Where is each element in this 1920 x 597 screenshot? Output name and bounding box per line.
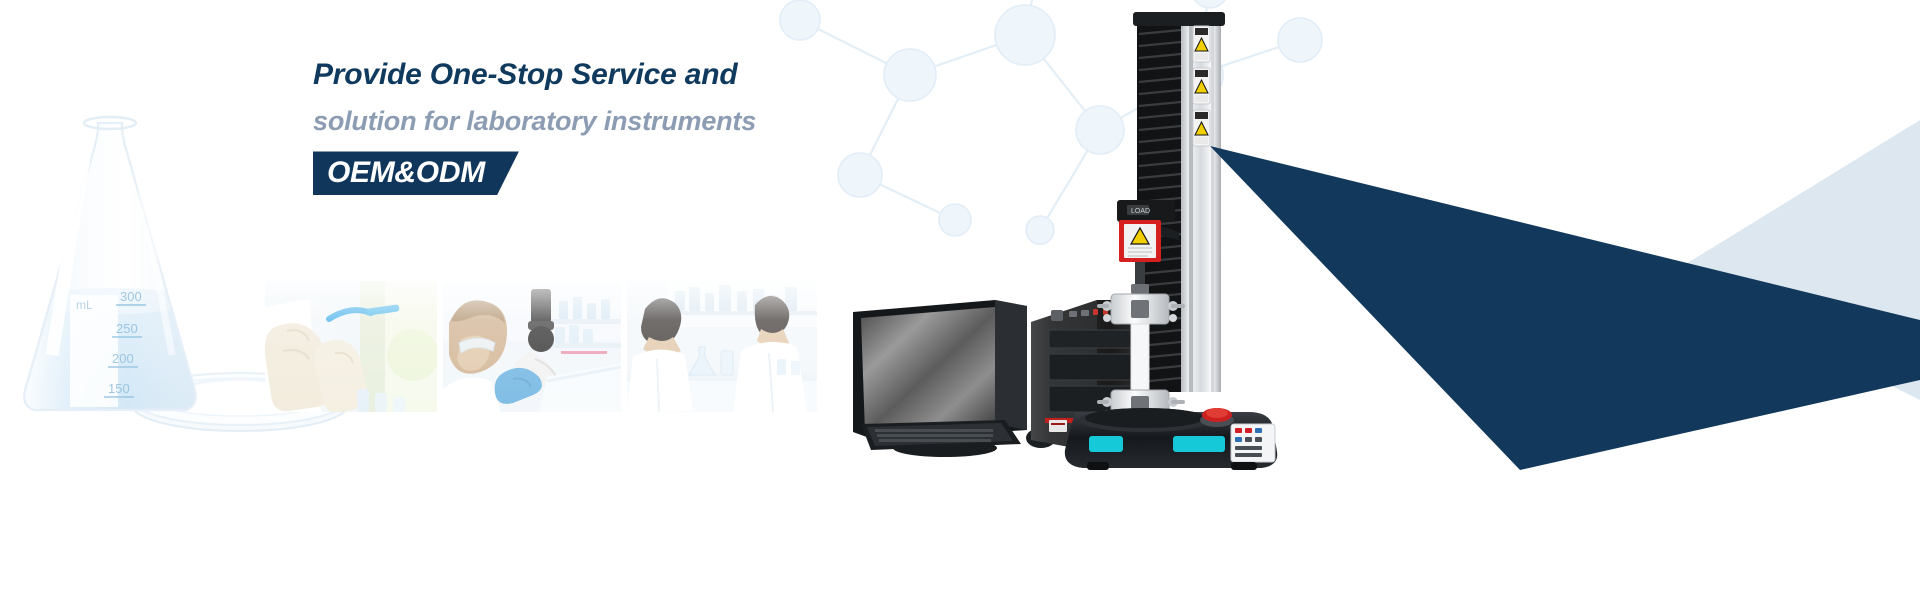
computer-tower: noname (1031, 300, 1145, 452)
photo-microscope (443, 281, 621, 412)
svg-text:mL: mL (76, 298, 93, 312)
headline-block: Provide One-Stop Service and solution fo… (313, 56, 953, 195)
emergency-stop-button[interactable] (1200, 408, 1234, 427)
svg-text:300: 300 (120, 289, 142, 304)
svg-text:LOAD: LOAD (1131, 208, 1150, 215)
headline-line-1: Provide One-Stop Service and (313, 56, 953, 94)
computer-keyboard (861, 420, 1056, 450)
accent-strip-right (1173, 436, 1225, 452)
photo-lab-team (627, 281, 817, 412)
load-cell-carriage: LOAD (1117, 200, 1179, 262)
upper-grip (1097, 262, 1185, 324)
lab-photo-strip (265, 281, 817, 412)
dark-navy-arrow-triangle (1210, 146, 1920, 470)
svg-text:200: 200 (112, 351, 134, 366)
headline-line-2: solution for laboratory instruments (313, 104, 953, 139)
photo-pipetting (265, 281, 437, 412)
svg-text:noname: noname (1091, 424, 1124, 434)
svg-text:250: 250 (116, 321, 138, 336)
computer-monitor (853, 300, 1027, 457)
light-blue-triangle (1668, 120, 1920, 400)
warning-label-group (1193, 26, 1210, 146)
hero-banner: 300 250 200 150 mL Provide One-Stop Serv… (0, 0, 1920, 597)
oem-odm-badge: OEM&ODM (313, 151, 519, 195)
decor-triangles (1190, 120, 1920, 470)
test-specimen (1131, 324, 1149, 396)
oem-odm-badge-wrap: OEM&ODM (313, 151, 519, 195)
lower-grip (1097, 390, 1185, 436)
svg-text:150: 150 (108, 381, 130, 396)
machine-base-console (1065, 408, 1277, 470)
accent-strip-left (1089, 436, 1123, 452)
universal-testing-machine: LOAD (1065, 12, 1277, 470)
